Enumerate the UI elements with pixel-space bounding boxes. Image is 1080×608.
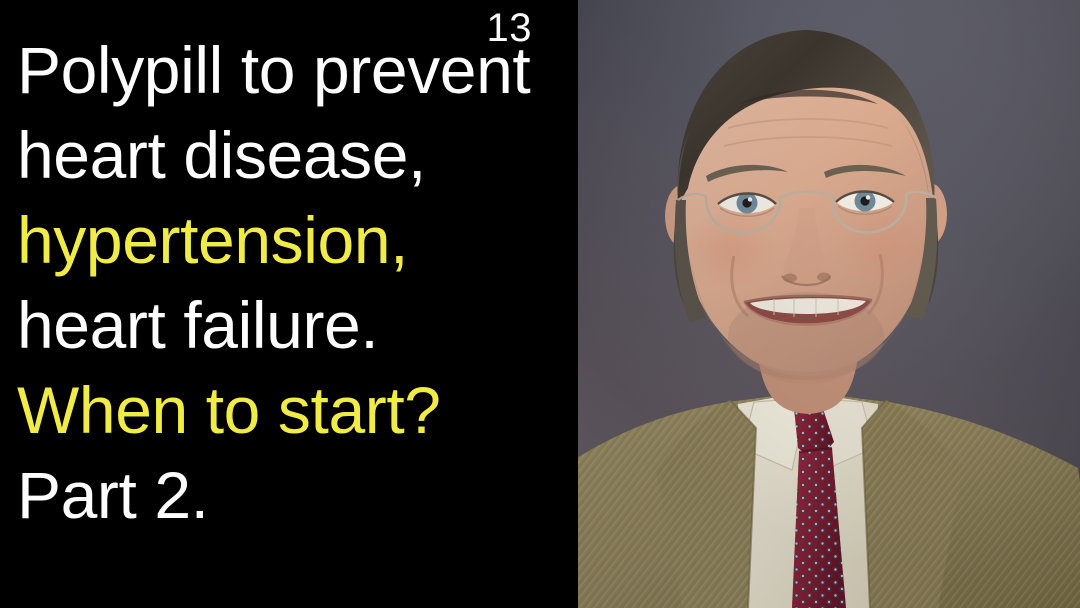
portrait-photo-image [578,0,1080,608]
headline-line-5: When to start? [17,368,577,453]
headline-line-3: hypertension, [17,198,577,283]
title-text-panel: 13 Polypill to prevent heart disease, hy… [0,0,578,608]
slide-canvas: 13 Polypill to prevent heart disease, hy… [0,0,1080,608]
headline-line-6: Part 2. [17,453,577,538]
page-title: Polypill to prevent heart disease, hyper… [17,28,577,538]
headline-line-1: Polypill to prevent [17,28,577,113]
portrait-photo [578,0,1080,608]
headline-line-4: heart failure. [17,283,577,368]
headline-line-2: heart disease, [17,113,577,198]
